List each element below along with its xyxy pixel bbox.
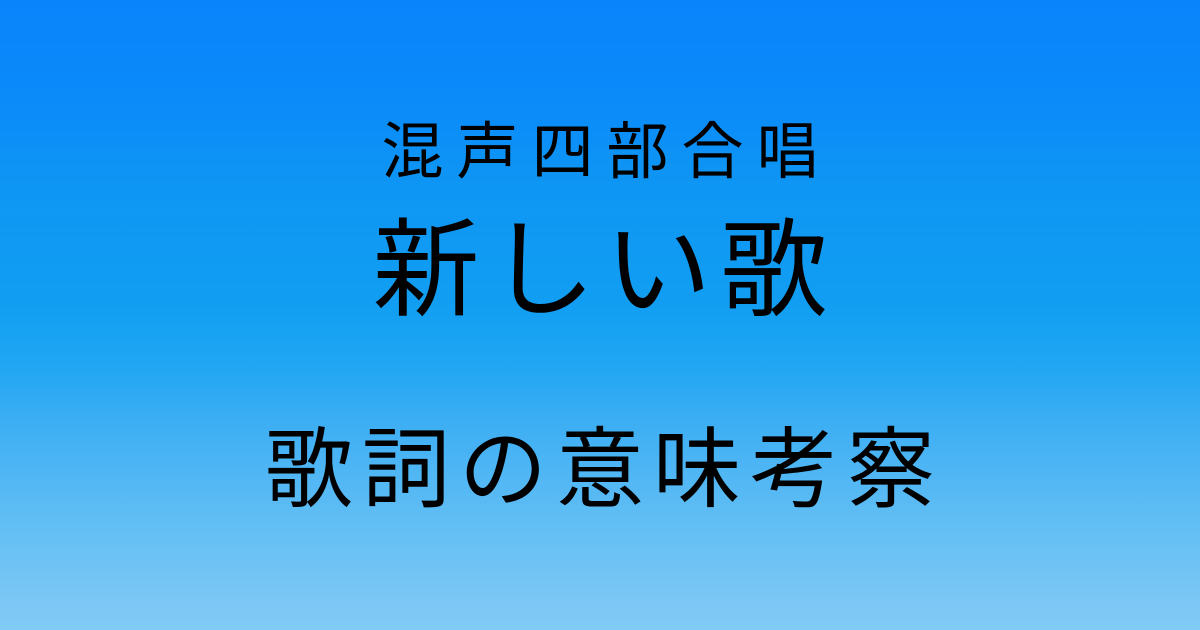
eyecatch-banner: 混声四部合唱 新しい歌 歌詞の意味考察 xyxy=(0,0,1200,630)
subtitle-text: 歌詞の意味考察 xyxy=(256,420,944,520)
kicker-text: 混声四部合唱 xyxy=(368,118,831,188)
page-title: 新しい歌 xyxy=(363,210,836,330)
title-stack: 混声四部合唱 新しい歌 歌詞の意味考察 xyxy=(0,118,1200,520)
